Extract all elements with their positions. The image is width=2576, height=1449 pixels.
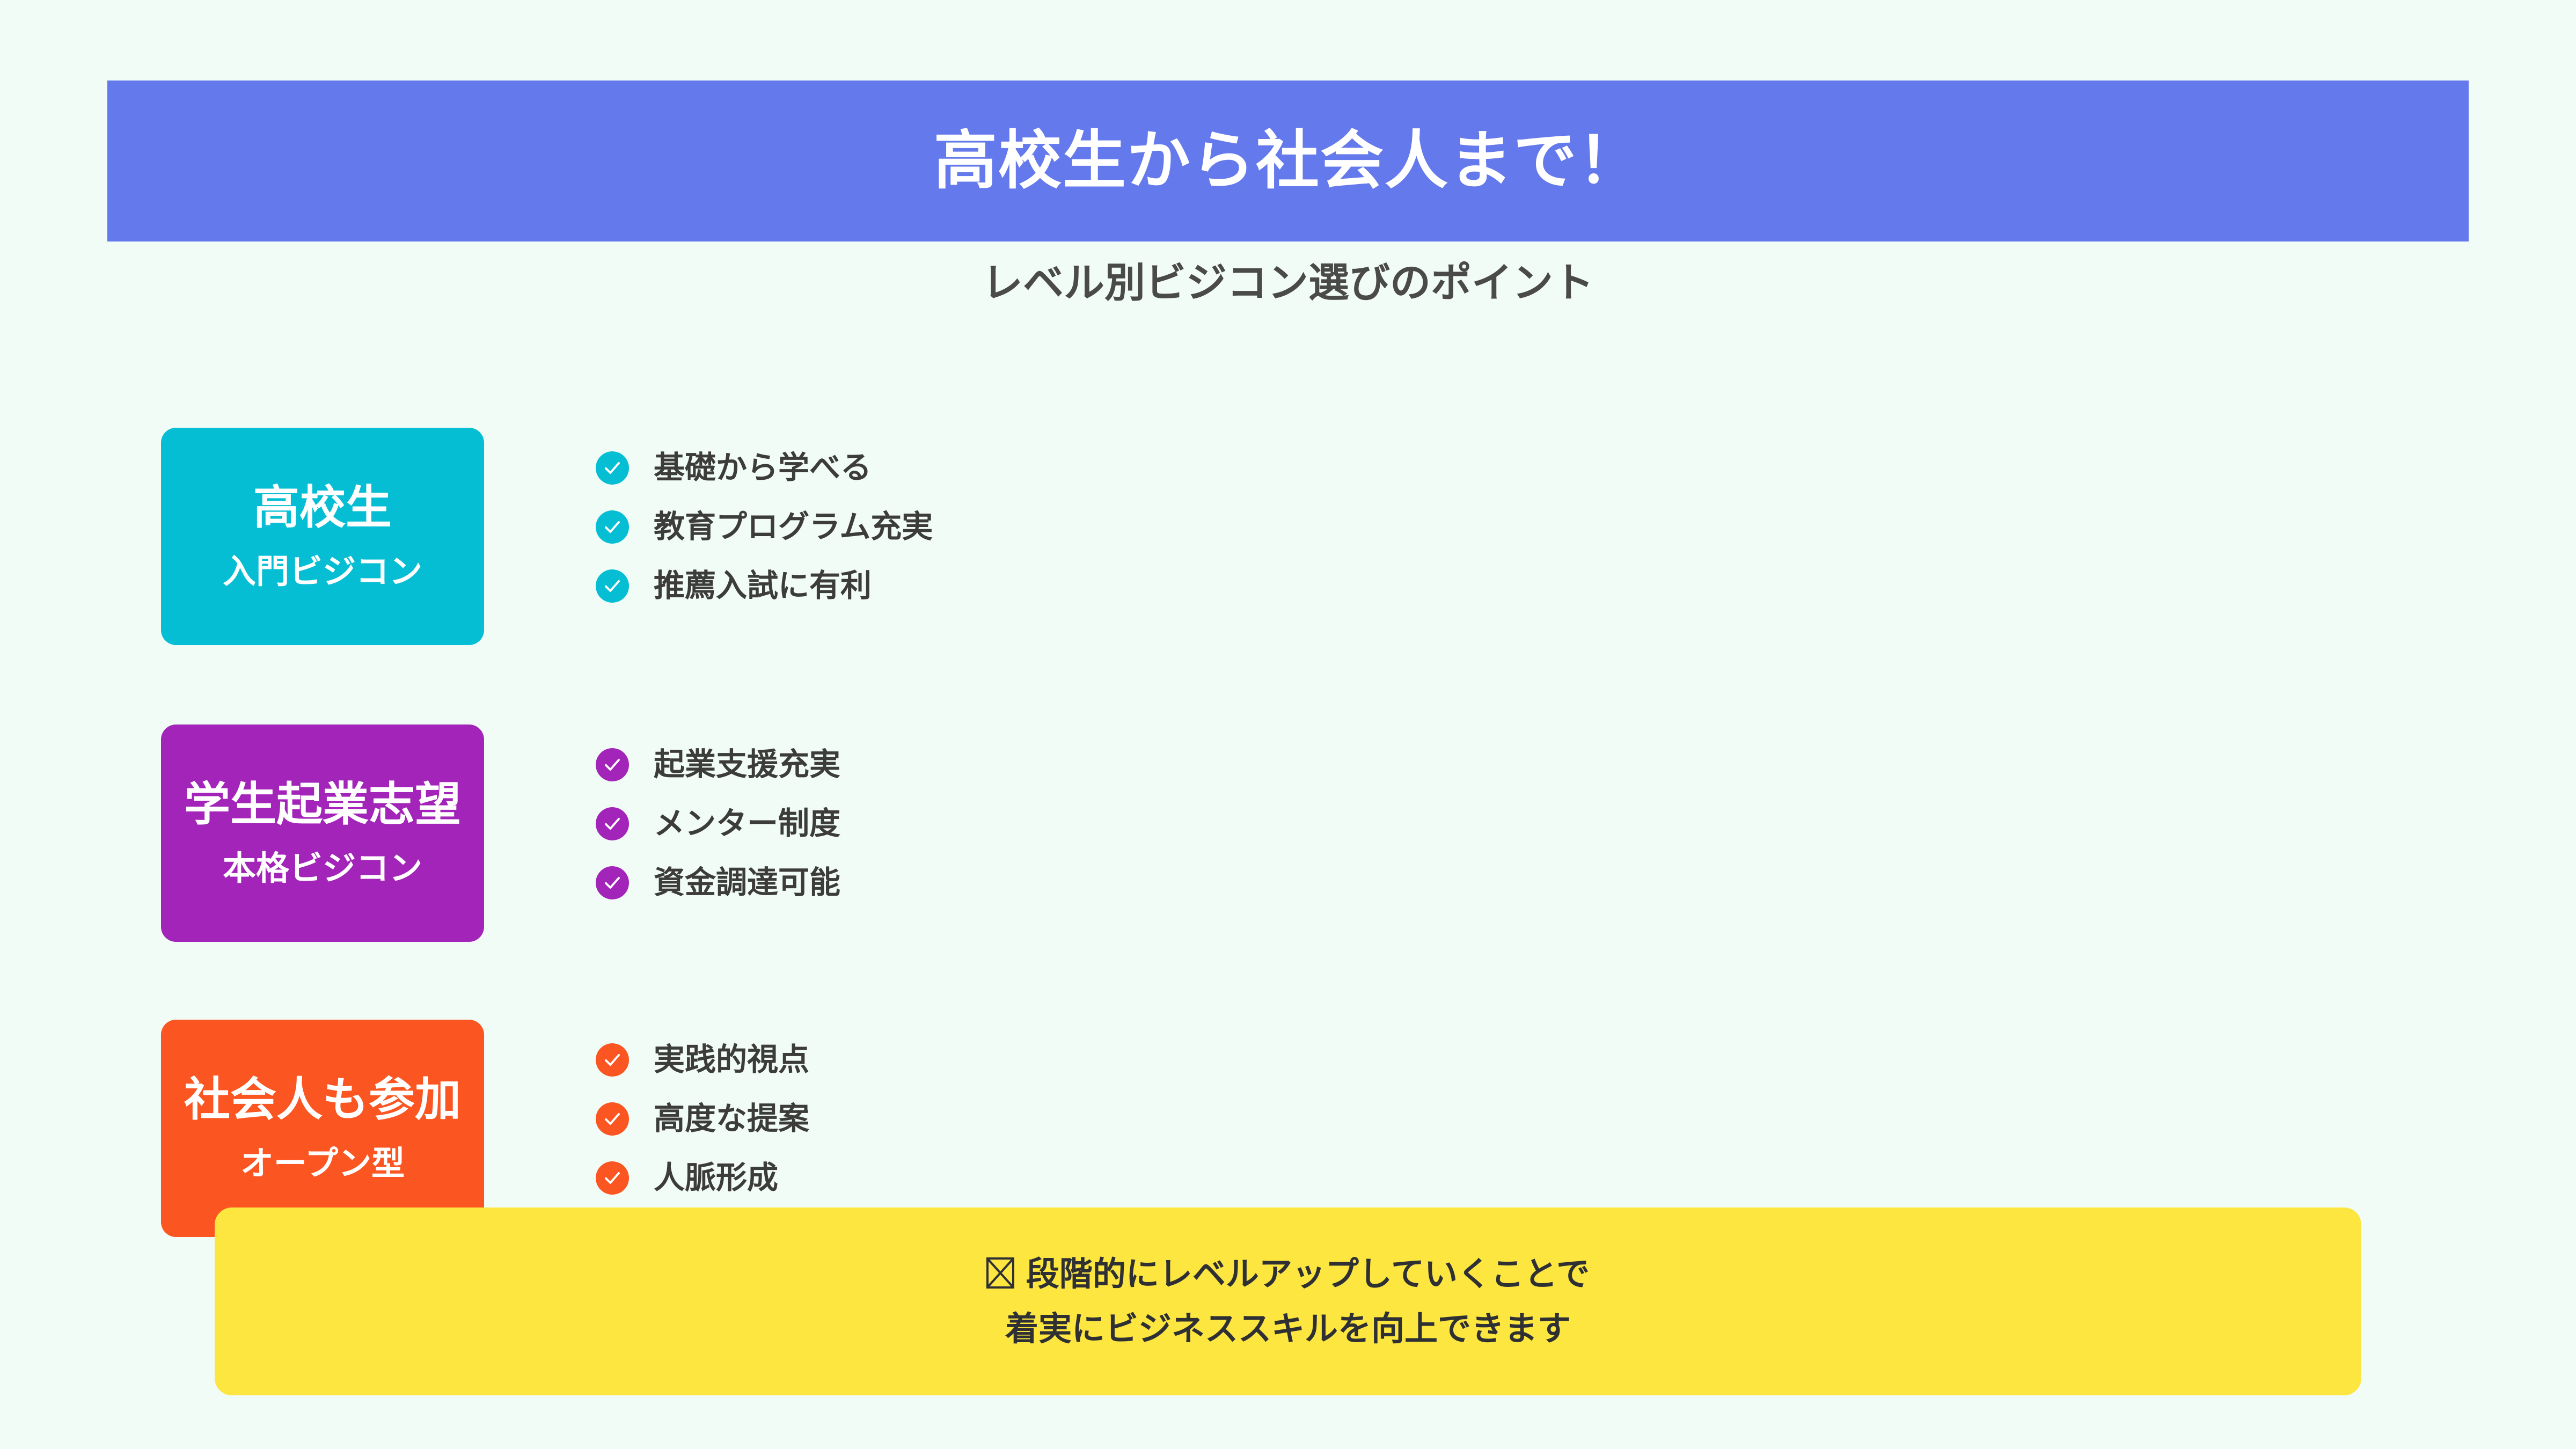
- callout-line-1: 段階的にレベルアップしていくことで: [986, 1257, 1590, 1291]
- feature-label: 高度な提案: [654, 1103, 809, 1135]
- callout-line-2: 着実にビジネススキルを向上できます: [1005, 1313, 1571, 1346]
- list-item: メンター制度: [596, 807, 840, 840]
- list-item: 人脈形成: [596, 1161, 809, 1195]
- level-row-student-entrepreneur: 学生起業志望 本格ビジコン 起業支援充実 メンター制度 資金調達可能: [0, 724, 2576, 945]
- feature-label: 起業支援充実: [654, 749, 840, 780]
- level-row-highschool: 高校生 入門ビジコン 基礎から学べる 教育プログラム充実 推薦入試に有利: [0, 428, 2576, 648]
- list-item: 資金調達可能: [596, 866, 840, 899]
- feature-label: 実践的視点: [654, 1044, 809, 1075]
- check-icon: [596, 866, 629, 899]
- feature-list-working-adult: 実践的視点 高度な提案 人脈形成: [596, 1043, 809, 1195]
- check-icon: [596, 1043, 629, 1077]
- check-icon: [596, 807, 629, 840]
- check-icon: [596, 748, 629, 781]
- page-subtitle: レベル別ビジコン選びのポイント: [0, 263, 2576, 304]
- header-banner: 高校生から社会人まで！: [107, 80, 2469, 241]
- level-card-title: 高校生: [253, 485, 392, 531]
- callout-text-1: 段階的にレベルアップしていくことで: [1026, 1256, 1590, 1293]
- check-icon: [596, 569, 629, 603]
- feature-label: 資金調達可能: [654, 867, 840, 898]
- level-card-subtitle: オープン型: [240, 1147, 405, 1181]
- list-item: 推薦入試に有利: [596, 569, 933, 603]
- feature-label: 基礎から学べる: [654, 452, 872, 484]
- feature-list-highschool: 基礎から学べる 教育プログラム充実 推薦入試に有利: [596, 451, 933, 603]
- check-icon: [596, 451, 629, 485]
- level-card-highschool[interactable]: 高校生 入門ビジコン: [161, 428, 484, 645]
- level-card-working-adult[interactable]: 社会人も参加 オープン型: [161, 1020, 484, 1237]
- level-card-student-entrepreneur[interactable]: 学生起業志望 本格ビジコン: [161, 724, 484, 942]
- level-row-working-adult: 社会人も参加 オープン型 実践的視点 高度な提案 人脈形成: [0, 1020, 2576, 1240]
- level-card-title: 社会人も参加: [184, 1077, 461, 1123]
- list-item: 実践的視点: [596, 1043, 809, 1077]
- check-icon: [596, 510, 629, 544]
- feature-label: 推薦入試に有利: [654, 570, 872, 602]
- list-item: 基礎から学べる: [596, 451, 933, 485]
- feature-list-student-entrepreneur: 起業支援充実 メンター制度 資金調達可能: [596, 748, 840, 899]
- summary-callout: 段階的にレベルアップしていくことで 着実にビジネススキルを向上できます: [215, 1207, 2361, 1395]
- feature-label: 人脈形成: [654, 1162, 778, 1194]
- level-card-subtitle: 本格ビジコン: [223, 852, 422, 885]
- page-title: 高校生から社会人まで！: [934, 129, 1642, 193]
- feature-label: 教育プログラム充実: [654, 511, 933, 543]
- level-card-title: 学生起業志望: [184, 781, 461, 828]
- check-icon: [596, 1102, 629, 1136]
- check-icon: [596, 1161, 629, 1195]
- list-item: 高度な提案: [596, 1102, 809, 1136]
- level-card-subtitle: 入門ビジコン: [223, 555, 422, 589]
- missing-glyph-box-icon: [986, 1257, 1014, 1289]
- feature-label: メンター制度: [654, 808, 840, 839]
- list-item: 起業支援充実: [596, 748, 840, 781]
- list-item: 教育プログラム充実: [596, 510, 933, 544]
